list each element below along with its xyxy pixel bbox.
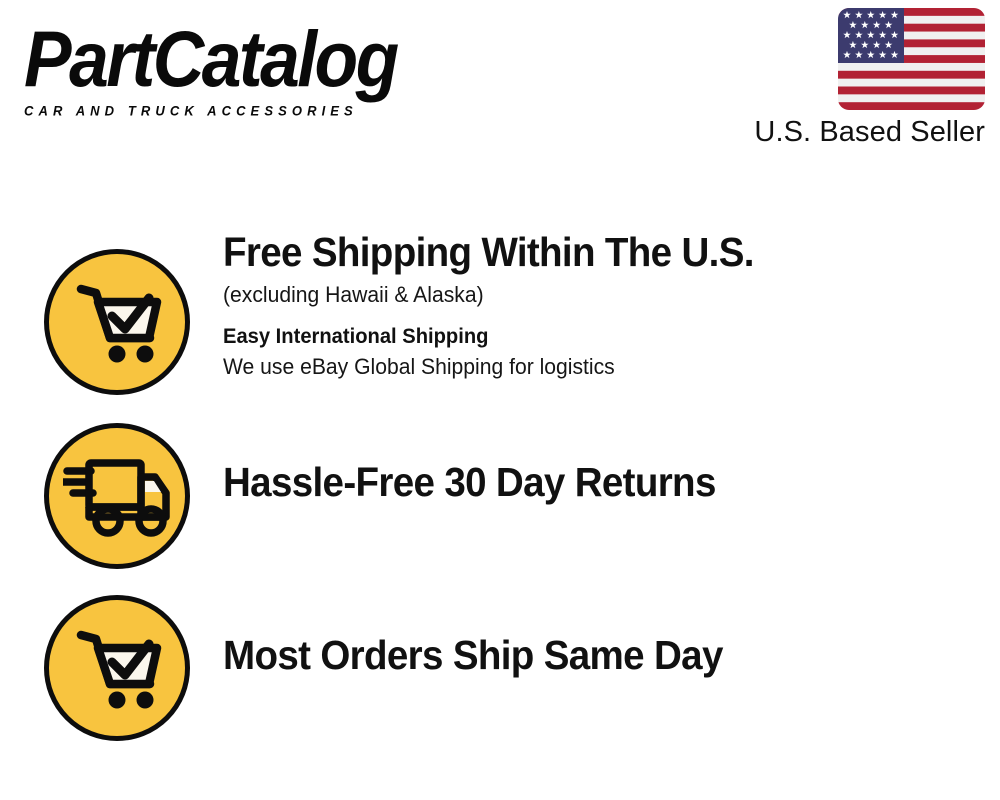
feature-row-same-day: Most Orders Ship Same Day <box>0 585 1000 760</box>
feature-subhead: Easy International Shipping <box>223 323 950 350</box>
delivery-truck-icon <box>44 423 190 569</box>
feature-text-returns: Hassle-Free 30 Day Returns <box>223 460 980 504</box>
feature-headline: Most Orders Ship Same Day <box>223 633 935 677</box>
cart-check-icon <box>44 595 190 741</box>
us-based-seller-label: U.S. Based Seller <box>665 116 985 149</box>
brand-wordmark: PartCatalog <box>24 22 503 96</box>
feature-text-same-day: Most Orders Ship Same Day <box>223 633 980 677</box>
promo-banner: PartCatalog CAR AND TRUCK ACCESSORIES <box>0 0 1000 800</box>
feature-text-free-shipping: Free Shipping Within The U.S. (excluding… <box>223 230 980 382</box>
us-flag-icon <box>838 8 985 110</box>
feature-row-returns: Hassle-Free 30 Day Returns <box>0 412 1000 587</box>
brand-tagline: CAR AND TRUCK ACCESSORIES <box>24 103 494 119</box>
brand-logo: PartCatalog CAR AND TRUCK ACCESSORIES <box>24 22 494 118</box>
banner-header: PartCatalog CAR AND TRUCK ACCESSORIES <box>0 0 1000 170</box>
cart-check-icon <box>44 249 190 395</box>
feature-row-free-shipping: Free Shipping Within The U.S. (excluding… <box>0 230 1000 420</box>
feature-headline: Free Shipping Within The U.S. <box>223 230 935 274</box>
feature-subnote: We use eBay Global Shipping for logistic… <box>223 353 950 382</box>
us-based-seller-block: U.S. Based Seller <box>665 8 985 149</box>
feature-headline: Hassle-Free 30 Day Returns <box>223 460 935 504</box>
feature-subline: (excluding Hawaii & Alaska) <box>223 280 950 310</box>
